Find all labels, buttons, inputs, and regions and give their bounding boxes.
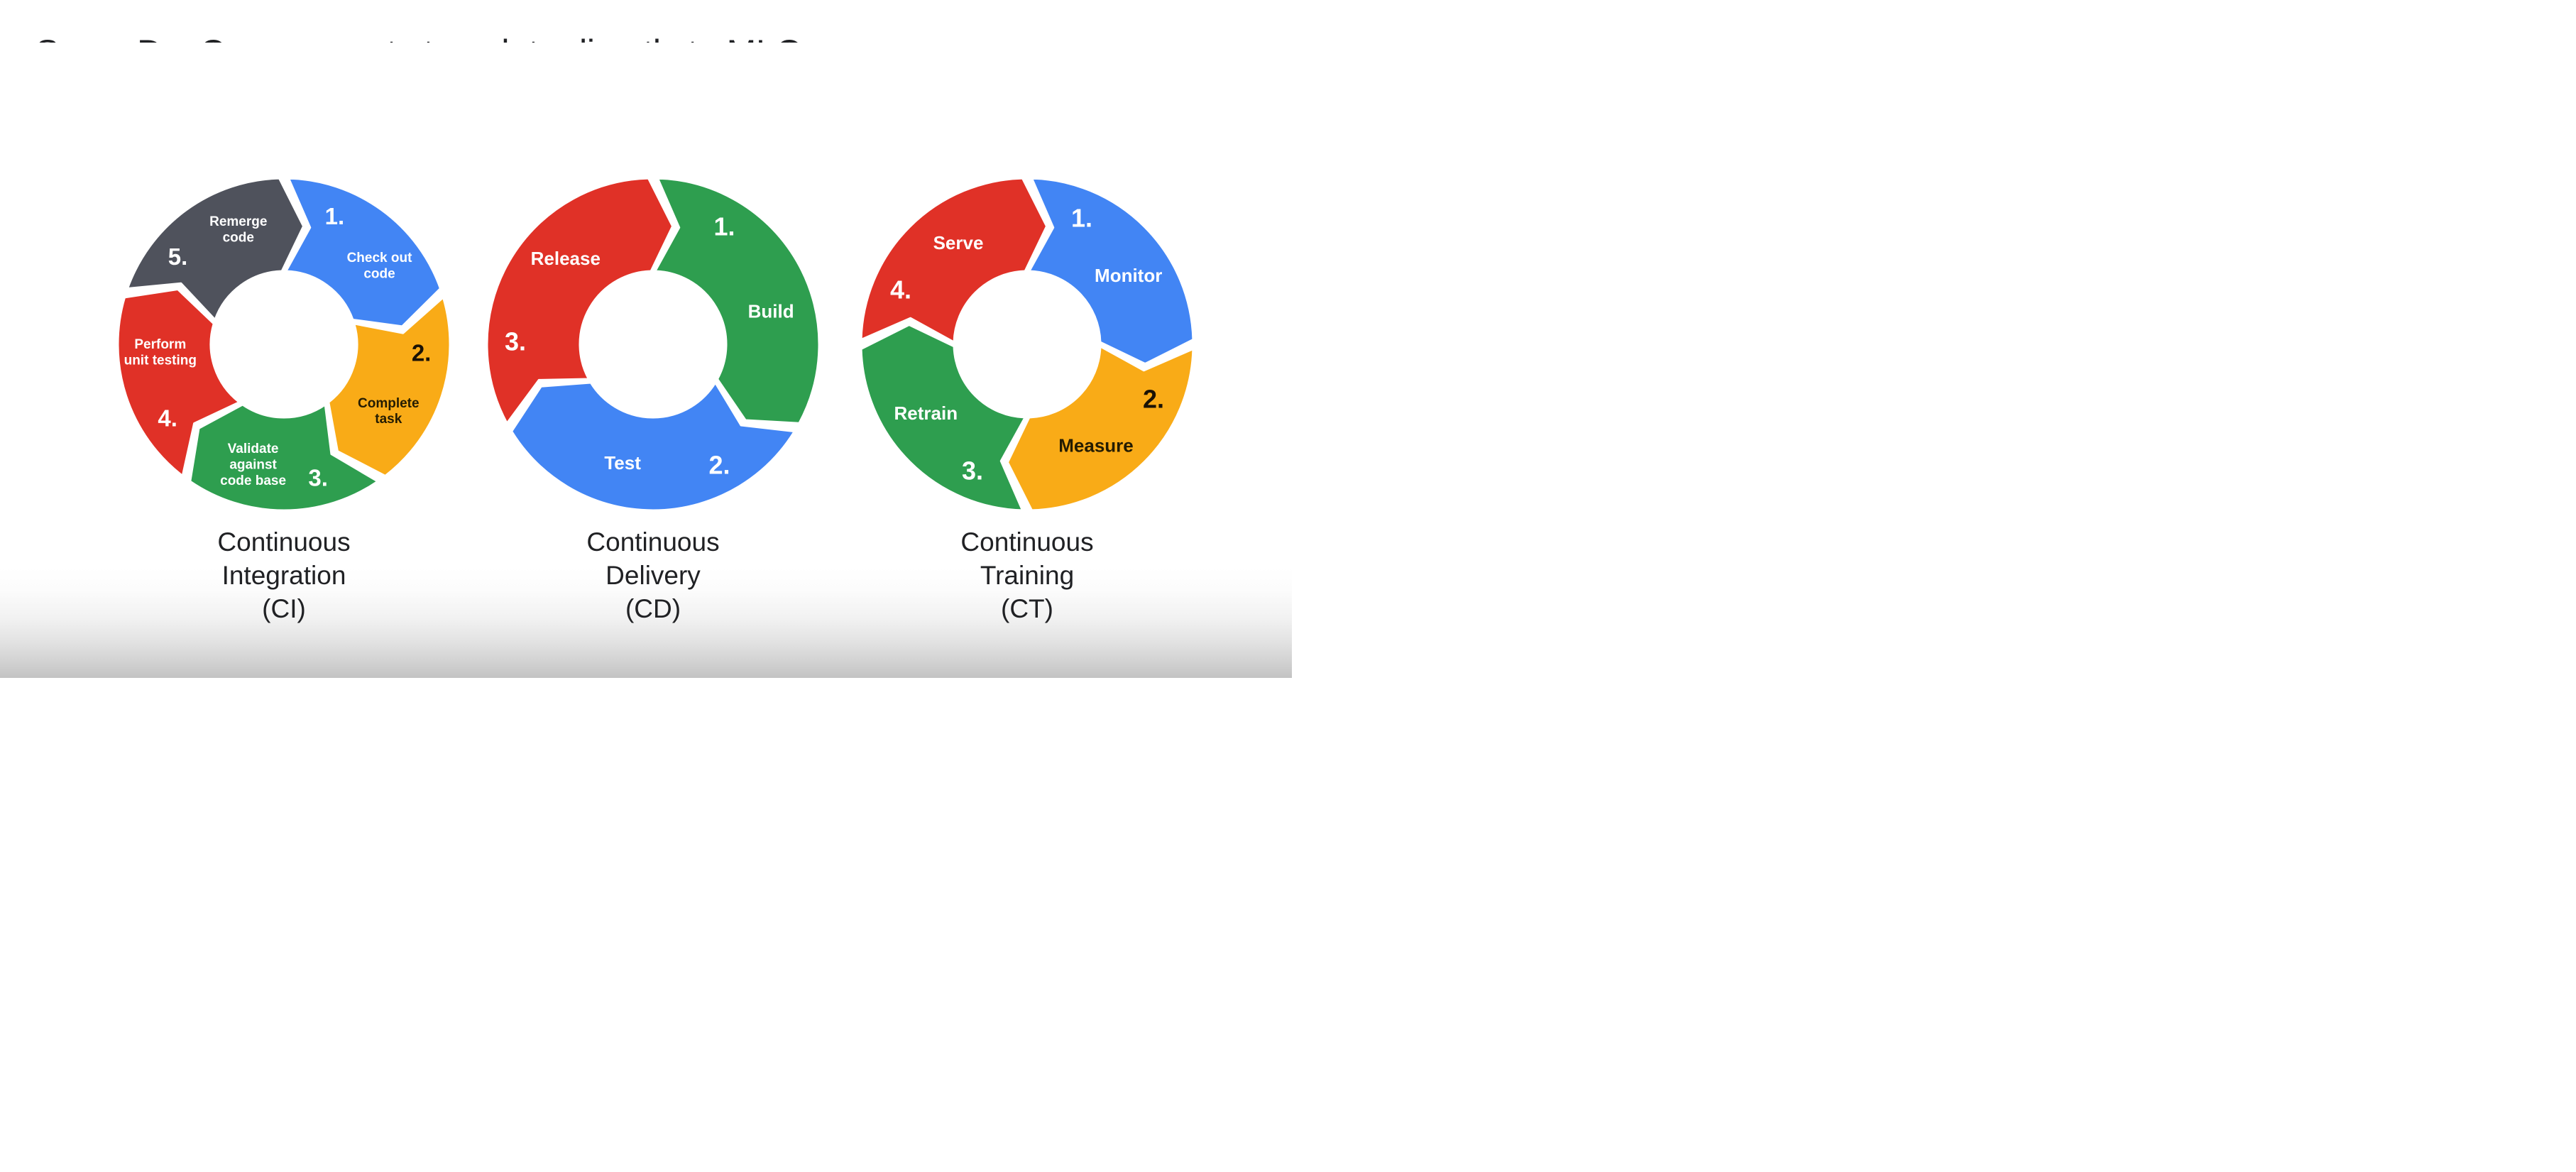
segment-shape [861,178,1046,342]
caption-line: Integration [99,559,468,592]
segment-label: Retrain [894,402,958,424]
segment-number: 5. [168,243,188,270]
diagram-continuous-integration: 1.Check outcode2.Completetask3.Validatea… [99,43,468,678]
segment-number: 3. [505,327,526,356]
donut-chart-ci: 1.Check outcode2.Completetask3.Validatea… [99,167,468,522]
donut-svg-ci: 1.Check outcode2.Completetask3.Validatea… [99,167,468,522]
donut-segment-serve[interactable]: 4.Serve [861,178,1046,342]
caption-line: (CD) [468,592,838,625]
segment-label: code [223,230,254,245]
segment-label: Remerge [209,214,267,229]
segment-label: task [375,412,402,427]
caption-line: Continuous [99,525,468,559]
donut-chart-cd: 1.Build2.Test3.Release [468,167,838,522]
segment-number: 1. [713,212,735,241]
segment-label: Check out [347,251,413,265]
segment-label: Validate [228,442,279,456]
segment-label: Measure [1058,435,1134,456]
donut-chart-ct: 1.Monitor2.Measure3.Retrain4.Serve [843,167,1212,522]
segment-number: 2. [1143,385,1164,414]
donut-svg-cd: 1.Build2.Test3.Release [468,167,838,522]
caption-line: Continuous [843,525,1212,559]
segment-label: code [363,266,395,281]
donut-segment-monitor[interactable]: 1.Monitor [1029,178,1193,363]
segment-number: 3. [962,456,983,486]
caption-line: Continuous [468,525,838,559]
segment-shape [655,178,819,423]
donut-svg-ct: 1.Monitor2.Measure3.Retrain4.Serve [843,167,1212,522]
segment-number: 3. [308,465,328,491]
segment-label: Test [604,452,641,473]
segment-label: Perform [134,337,186,352]
caption-line: (CI) [99,592,468,625]
segment-number: 4. [890,275,911,305]
donut-segment-check-out-code[interactable]: 1.Check outcode [286,178,441,327]
diagram-continuous-delivery: 1.Build2.Test3.Release ContinuousDeliver… [468,43,838,678]
segment-number: 2. [412,340,432,366]
diagram-continuous-training: 1.Monitor2.Measure3.Retrain4.Serve Conti… [843,43,1212,678]
donut-segment-measure[interactable]: 2.Measure [1007,346,1193,510]
segment-label: against [229,458,277,473]
segment-number: 1. [325,203,345,229]
segment-label: Monitor [1095,265,1162,286]
segment-shape [1007,346,1193,510]
segment-label: Complete [358,396,420,411]
donut-segment-retrain[interactable]: 3.Retrain [861,324,1025,510]
segment-label: Release [531,248,601,269]
caption-continuous-training: ContinuousTraining(CT) [843,525,1212,625]
segment-label: Build [748,301,794,322]
caption-line: Training [843,559,1212,592]
caption-line: (CT) [843,592,1212,625]
diagram-figure: 1.Check outcode2.Completetask3.Validatea… [0,43,1292,678]
segment-label: unit testing [124,354,197,368]
caption-line: Delivery [468,559,838,592]
segment-label: code base [220,473,286,488]
caption-continuous-integration: ContinuousIntegration(CI) [99,525,468,625]
donut-segment-build[interactable]: 1.Build [655,178,819,423]
segment-number: 1. [1071,204,1092,233]
segment-number: 4. [158,405,177,432]
segment-label: Serve [933,232,984,253]
segment-number: 2. [708,451,730,480]
caption-continuous-delivery: ContinuousDelivery(CD) [468,525,838,625]
